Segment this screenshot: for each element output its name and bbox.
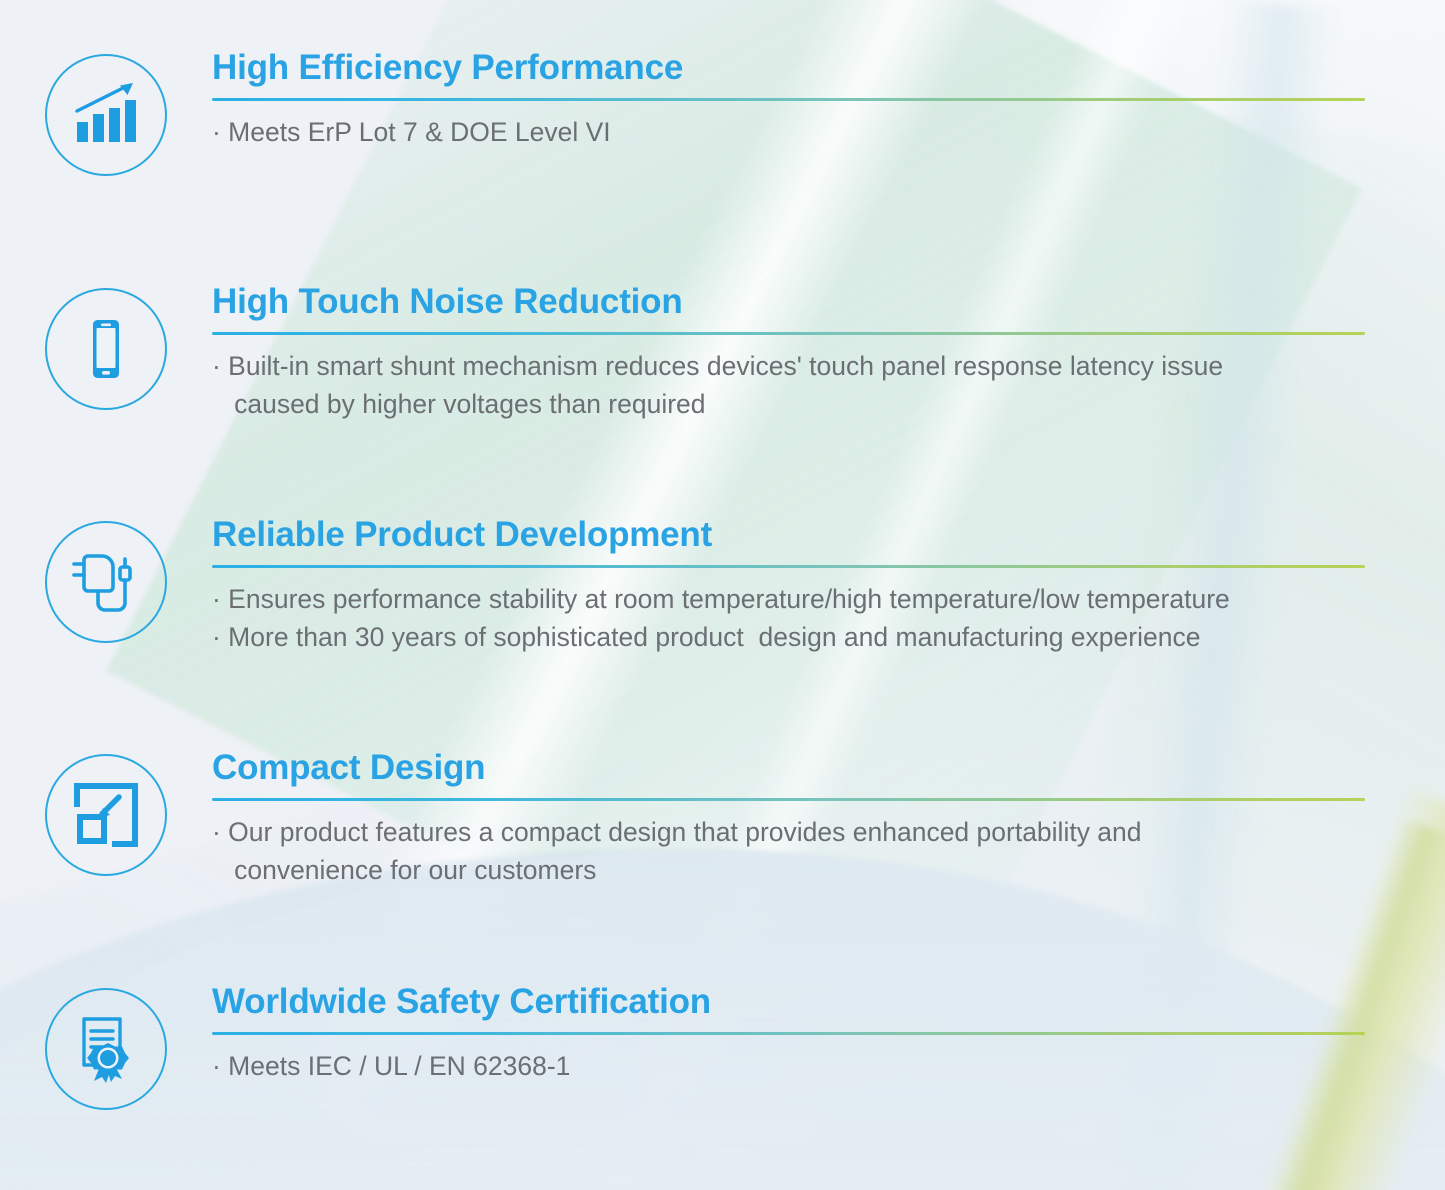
feature-bullet-list: · Meets IEC / UL / EN 62368-1 <box>212 1048 1365 1086</box>
smartphone-icon <box>45 288 167 410</box>
feature-divider <box>212 98 1365 101</box>
feature-bullet: · Built-in smart shunt mechanism reduces… <box>212 348 1365 423</box>
feature-text-cell: Reliable Product Development · Ensures p… <box>212 515 1445 656</box>
certificate-award-icon <box>45 988 167 1110</box>
feature-bullet: · Ensures performance stability at room … <box>212 581 1365 619</box>
feature-divider <box>212 798 1365 801</box>
feature-title: Reliable Product Development <box>212 515 1365 554</box>
feature-bullet-list: · Meets ErP Lot 7 & DOE Level VI <box>212 114 1365 152</box>
feature-item-reliable-product-development: Reliable Product Development · Ensures p… <box>0 515 1445 656</box>
feature-text-cell: High Efficiency Performance · Meets ErP … <box>212 48 1445 152</box>
feature-divider <box>212 565 1365 568</box>
feature-item-high-efficiency-performance: High Efficiency Performance · Meets ErP … <box>0 48 1445 176</box>
feature-bullet: · More than 30 years of sophisticated pr… <box>212 619 1365 657</box>
feature-icon-cell <box>0 515 212 643</box>
feature-bullet-list: · Ensures performance stability at room … <box>212 581 1365 656</box>
compact-resize-icon <box>45 754 167 876</box>
feature-text-cell: Worldwide Safety Certification · Meets I… <box>212 982 1445 1086</box>
feature-title: Compact Design <box>212 748 1365 787</box>
feature-bullet: · Meets IEC / UL / EN 62368-1 <box>212 1048 1365 1086</box>
feature-divider <box>212 1032 1365 1035</box>
feature-highlights-page: High Efficiency Performance · Meets ErP … <box>0 0 1445 1190</box>
feature-title: High Efficiency Performance <box>212 48 1365 87</box>
feature-icon-cell <box>0 982 212 1110</box>
feature-icon-cell <box>0 748 212 876</box>
feature-text-cell: High Touch Noise Reduction · Built-in sm… <box>212 282 1445 423</box>
feature-item-high-touch-noise-reduction: High Touch Noise Reduction · Built-in sm… <box>0 282 1445 423</box>
feature-title: High Touch Noise Reduction <box>212 282 1365 321</box>
feature-title: Worldwide Safety Certification <box>212 982 1365 1021</box>
power-adapter-icon <box>45 521 167 643</box>
feature-icon-cell <box>0 48 212 176</box>
feature-bullet-list: · Built-in smart shunt mechanism reduces… <box>212 348 1365 423</box>
feature-bullet: · Meets ErP Lot 7 & DOE Level VI <box>212 114 1365 152</box>
feature-divider <box>212 332 1365 335</box>
feature-item-worldwide-safety-certification: Worldwide Safety Certification · Meets I… <box>0 982 1445 1110</box>
feature-bullet: · Our product features a compact design … <box>212 814 1365 889</box>
feature-item-compact-design: Compact Design · Our product features a … <box>0 748 1445 889</box>
bar-chart-growth-icon <box>45 54 167 176</box>
feature-icon-cell <box>0 282 212 410</box>
feature-text-cell: Compact Design · Our product features a … <box>212 748 1445 889</box>
feature-bullet-list: · Our product features a compact design … <box>212 814 1365 889</box>
